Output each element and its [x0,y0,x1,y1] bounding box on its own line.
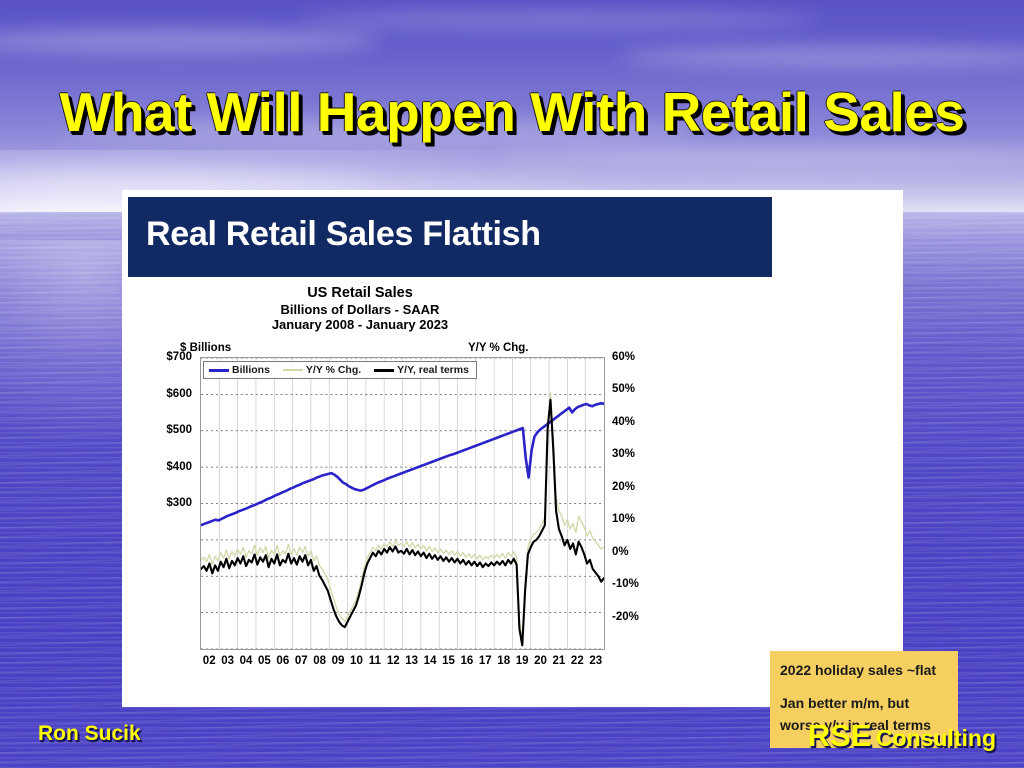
y-tick-right: 20% [612,481,658,493]
legend-label: Y/Y % Chg. [306,364,361,376]
x-tick-label: 14 [421,655,439,671]
chart-svg [201,358,604,649]
x-tick-label: 16 [458,655,476,671]
x-tick-label: 19 [513,655,531,671]
x-tick-label: 15 [439,655,457,671]
legend-item-yoy-pct: Y/Y % Chg. [283,364,361,376]
x-tick-label: 09 [329,655,347,671]
company-abbr: RSE [808,718,872,753]
slide-canvas: What Will Happen With Retail Sales Real … [0,0,1024,768]
x-tick-label: 05 [255,655,273,671]
legend-label: Billions [232,364,270,376]
y-axis-right-label: Y/Y % Chg. [468,342,529,354]
legend-swatch-icon [209,369,229,372]
x-tick-label: 17 [476,655,494,671]
legend-swatch-icon [283,369,303,371]
x-tick-label: 13 [402,655,420,671]
chart-legend: Billions Y/Y % Chg. Y/Y, real terms [203,361,477,379]
panel-header-band: Real Retail Sales Flattish [128,197,772,277]
x-tick-label: 12 [384,655,402,671]
y-tick-left: $500 [148,424,192,436]
presenter-name: Ron Sucik [38,722,141,746]
callout-line-2: Jan better m/m, but [780,695,909,711]
x-tick-label: 22 [568,655,586,671]
y-tick-right: 40% [612,416,658,428]
company-word: Consulting [876,725,996,751]
y-tick-right: -20% [612,611,658,623]
x-axis-ticks: 0203040506070809101112131415161718192021… [200,655,605,671]
chart-subtitle: Billions of Dollars - SAAR [140,302,580,317]
x-tick-label: 06 [274,655,292,671]
x-tick-label: 11 [366,655,384,671]
y-tick-right: 10% [612,513,658,525]
x-tick-label: 10 [347,655,365,671]
chart-title-block: US Retail Sales Billions of Dollars - SA… [140,285,580,333]
x-tick-label: 23 [587,655,605,671]
y-tick-left: $400 [148,461,192,473]
chart-panel: Real Retail Sales Flattish US Retail Sal… [122,190,903,707]
page-title: What Will Happen With Retail Sales [0,80,1024,144]
chart-title: US Retail Sales [140,285,580,302]
callout-line-1: 2022 holiday sales ~flat [780,662,936,678]
panel-header-title: Real Retail Sales Flattish [146,215,541,254]
y-tick-left: $300 [148,497,192,509]
y-tick-right: -10% [612,578,658,590]
x-tick-label: 20 [531,655,549,671]
chart-subtitle-range: January 2008 - January 2023 [140,317,580,332]
x-tick-label: 08 [310,655,328,671]
y-tick-left: $600 [148,388,192,400]
legend-swatch-icon [374,369,394,372]
x-tick-label: 21 [550,655,568,671]
x-tick-label: 07 [292,655,310,671]
x-tick-label: 03 [218,655,236,671]
y-tick-right: 60% [612,351,658,363]
legend-item-billions: Billions [209,364,270,376]
legend-label: Y/Y, real terms [397,364,469,376]
y-tick-right: 50% [612,383,658,395]
legend-item-yoy-real: Y/Y, real terms [374,364,469,376]
plot-area [200,357,605,650]
chart-figure: US Retail Sales Billions of Dollars - SA… [140,285,640,700]
company-logo: RSE Consulting [808,718,996,754]
y-tick-right: 0% [612,546,658,558]
x-tick-label: 04 [237,655,255,671]
y-tick-right: 30% [612,448,658,460]
x-tick-label: 02 [200,655,218,671]
cloud-streak [300,10,820,30]
x-tick-label: 18 [495,655,513,671]
y-tick-left: $700 [148,351,192,363]
